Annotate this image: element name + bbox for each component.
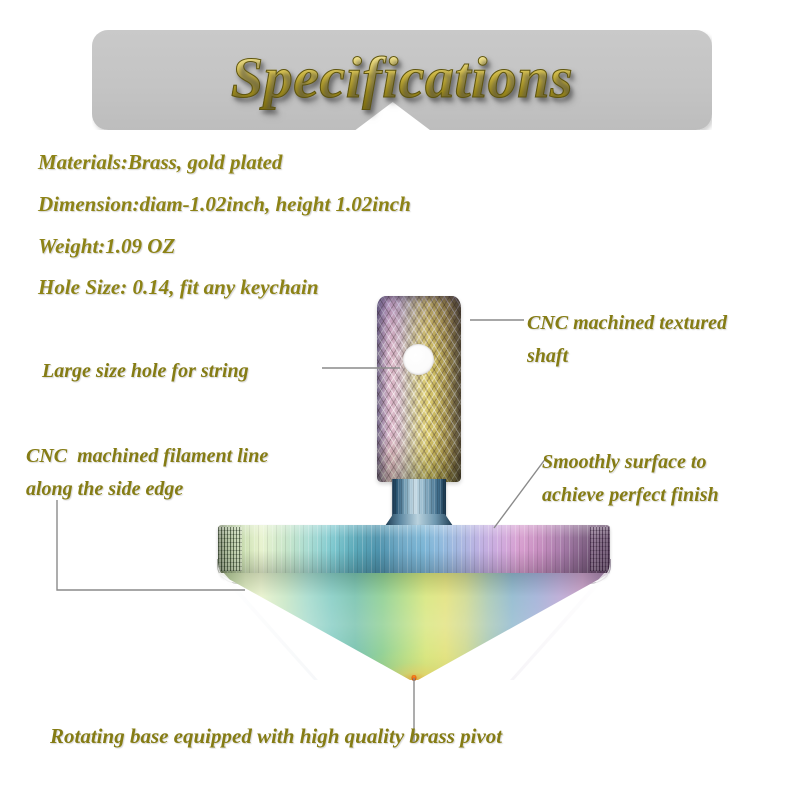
callout-rotating-base-pivot: Rotating base equipped with high quality… <box>50 720 502 753</box>
title-banner: Specifications <box>92 30 712 130</box>
page-title: Specifications <box>92 44 712 111</box>
leader-line-smooth <box>494 458 546 528</box>
shaft-cylinder-shading <box>377 296 461 482</box>
callout-cnc-filament-line: CNC machined filament line along the sid… <box>26 440 268 506</box>
callout-large-hole: Large size hole for string <box>42 355 249 388</box>
keychain-hole <box>403 344 434 375</box>
base-cone <box>218 573 610 680</box>
brass-pivot-tip <box>412 675 417 681</box>
spec-line-dimension: Dimension:diam-1.02inch, height 1.02inch <box>38 192 411 217</box>
leader-line-filament <box>57 500 245 590</box>
spec-line-weight: Weight:1.09 OZ <box>38 234 175 259</box>
infographic-canvas: Specifications Materials:Brass, gold pla… <box>0 0 800 800</box>
base-rim <box>218 525 610 577</box>
spinner-base <box>218 525 610 680</box>
knurled-shaft <box>377 296 461 482</box>
rim-shading <box>218 525 610 577</box>
callout-cnc-textured-shaft: CNC machined textured shaft <box>527 307 727 373</box>
spec-line-hole-size: Hole Size: 0.14, fit any keychain <box>38 275 319 300</box>
callout-smooth-surface: Smoothly surface to achieve perfect fini… <box>542 446 719 512</box>
shaft-top-chamfer <box>377 296 461 303</box>
cone-sheen <box>218 573 610 680</box>
spec-line-materials: Materials:Brass, gold plated <box>38 150 282 175</box>
